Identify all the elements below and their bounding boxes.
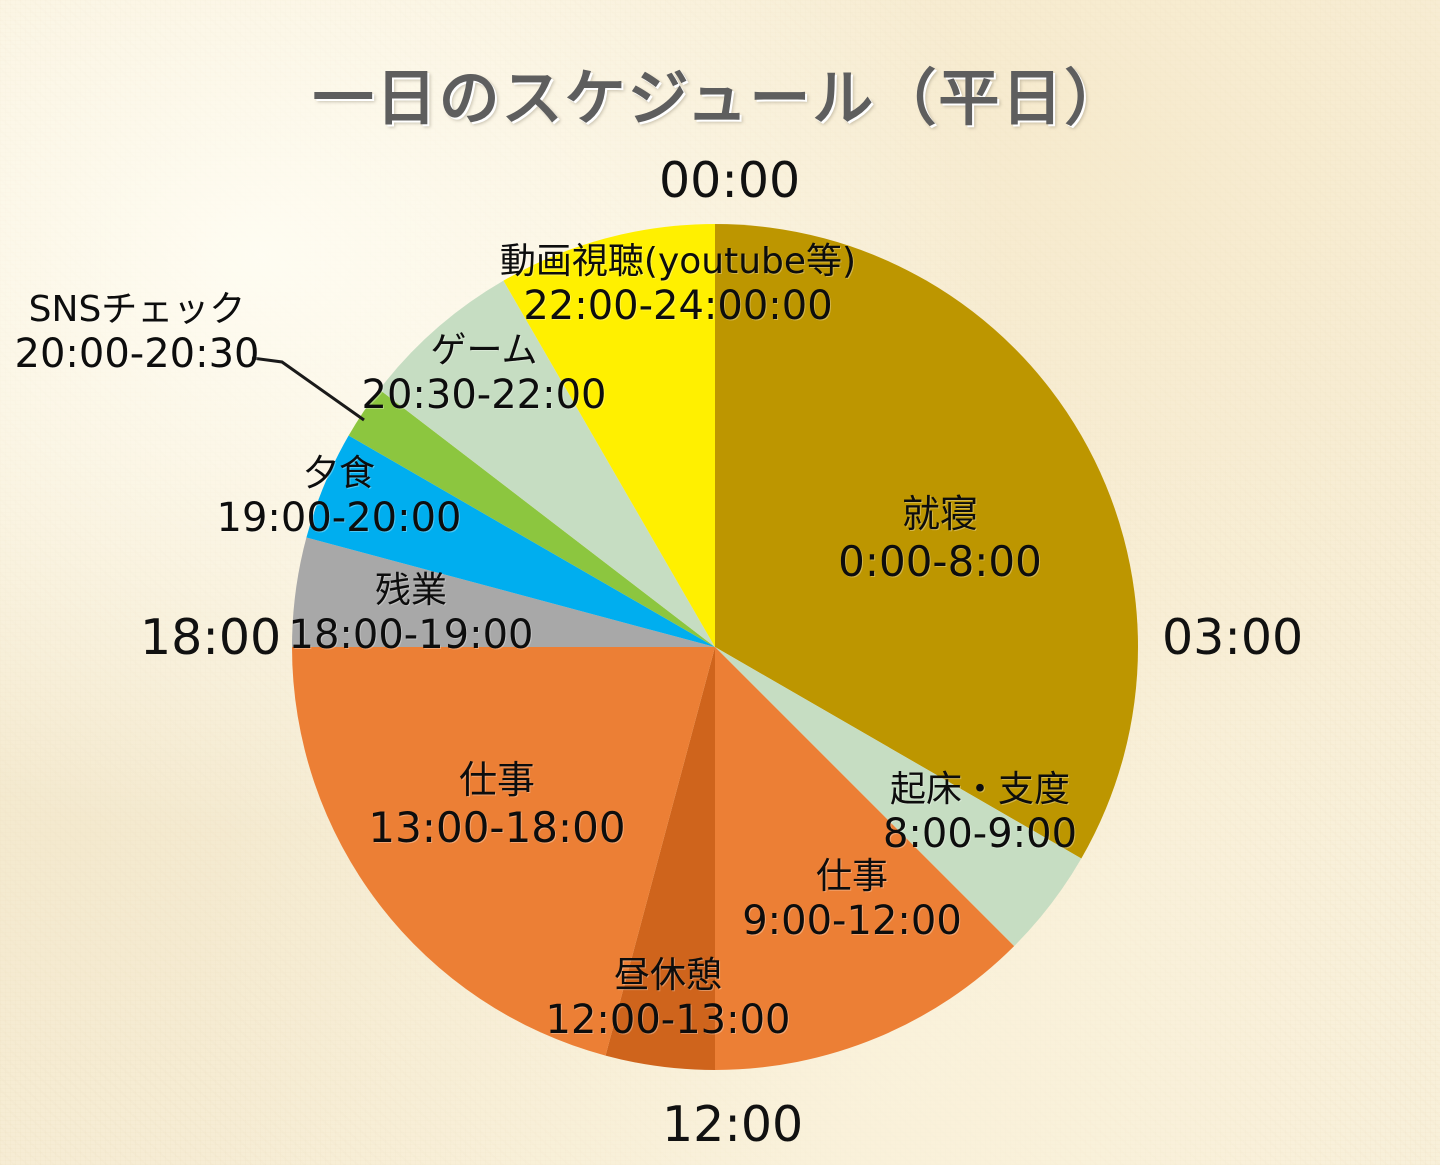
slice-label-name: ゲーム — [339, 330, 629, 372]
slice-label-name: 夕食 — [189, 453, 489, 495]
slice-label-name: 動画視聴(youtube等) — [478, 241, 878, 283]
slice-label-time: 8:00-9:00 — [830, 811, 1130, 858]
slice-label-sleep: 就寝 0:00-8:00 — [810, 492, 1070, 586]
slice-label-lunch-break: 昼休憩 12:00-13:00 — [518, 955, 818, 1045]
slice-label-time: 13:00-18:00 — [337, 803, 657, 853]
chart-title: 一日のスケジュール（平日） — [0, 48, 1440, 137]
slice-label-time: 18:00-19:00 — [261, 612, 561, 659]
slice-label-time: 12:00-13:00 — [518, 997, 818, 1044]
slice-label-name: SNSチェック — [12, 289, 262, 331]
slice-label-time: 0:00-8:00 — [810, 537, 1070, 587]
slice-label-name: 仕事 — [337, 758, 657, 803]
slice-label-time: 20:00-20:30 — [12, 331, 262, 378]
slice-label-name: 起床・支度 — [830, 769, 1130, 811]
axis-tick-1200: 12:00 — [662, 1096, 803, 1153]
slice-label-dinner: 夕食 19:00-20:00 — [189, 453, 489, 543]
slice-label-wake-up: 起床・支度 8:00-9:00 — [830, 769, 1130, 859]
axis-tick-0000: 00:00 — [659, 152, 800, 209]
slice-label-name: 就寝 — [810, 492, 1070, 537]
axis-tick-0300: 03:00 — [1162, 609, 1303, 666]
slice-label-game: ゲーム 20:30-22:00 — [339, 330, 629, 420]
slice-label-name: 残業 — [261, 570, 561, 612]
slice-label-name: 仕事 — [702, 856, 1002, 898]
slice-label-time: 19:00-20:00 — [189, 495, 489, 542]
slice-label-video-watching: 動画視聴(youtube等) 22:00-24:00:00 — [478, 241, 878, 331]
slice-label-overtime: 残業 18:00-19:00 — [261, 570, 561, 660]
slice-label-work-afternoon: 仕事 13:00-18:00 — [337, 758, 657, 852]
slice-label-name: 昼休憩 — [518, 955, 818, 997]
slice-label-time: 9:00-12:00 — [702, 898, 1002, 945]
slice-label-time: 20:30-22:00 — [339, 372, 629, 419]
slice-label-work-morning: 仕事 9:00-12:00 — [702, 856, 1002, 946]
slice-label-time: 22:00-24:00:00 — [478, 283, 878, 330]
slice-label-sns-check: SNSチェック 20:00-20:30 — [12, 289, 262, 379]
